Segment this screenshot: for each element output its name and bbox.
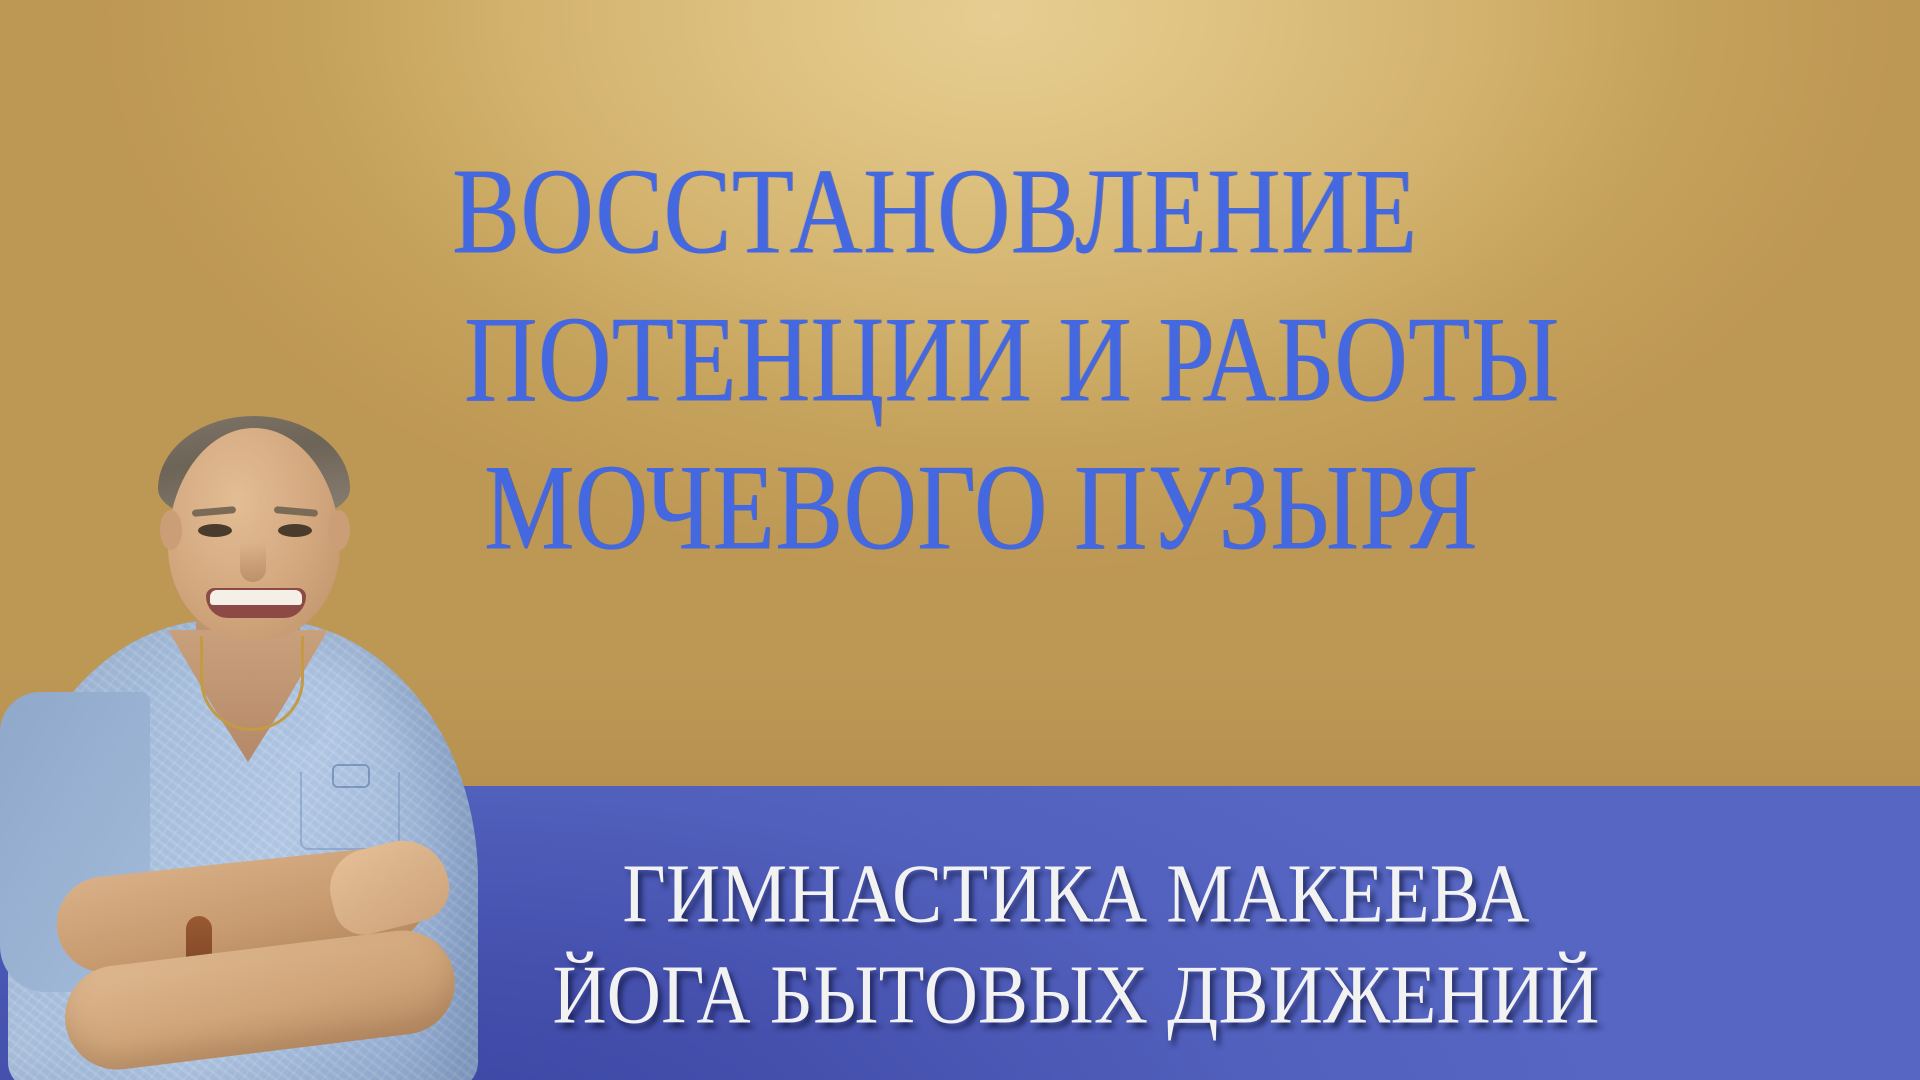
headline-line-2: ПОТЕНЦИИ И РАБОТЫ — [464, 298, 1872, 421]
presenter-ear-left — [160, 510, 182, 550]
presenter-nose — [240, 542, 266, 582]
presenter-eye-left — [198, 524, 232, 537]
headline-title: ВОССТАНОВЛЕНИЕ ПОТЕНЦИИ И РАБОТЫ МОЧЕВОГ… — [452, 150, 1872, 547]
presenter-smiling-mouth — [206, 588, 306, 618]
presenter-photo — [0, 392, 540, 1080]
presenter-pocket-logo — [332, 764, 370, 788]
presenter-eye-right — [278, 524, 312, 537]
presenter-teeth — [210, 590, 302, 605]
presenter-ear-right — [328, 510, 350, 550]
headline-line-1: ВОССТАНОВЛЕНИЕ — [452, 150, 1872, 273]
video-thumbnail: ВОССТАНОВЛЕНИЕ ПОТЕНЦИИ И РАБОТЫ МОЧЕВОГ… — [0, 0, 1920, 1080]
headline-line-3: МОЧЕВОГО ПУЗЫРЯ — [484, 446, 1872, 569]
